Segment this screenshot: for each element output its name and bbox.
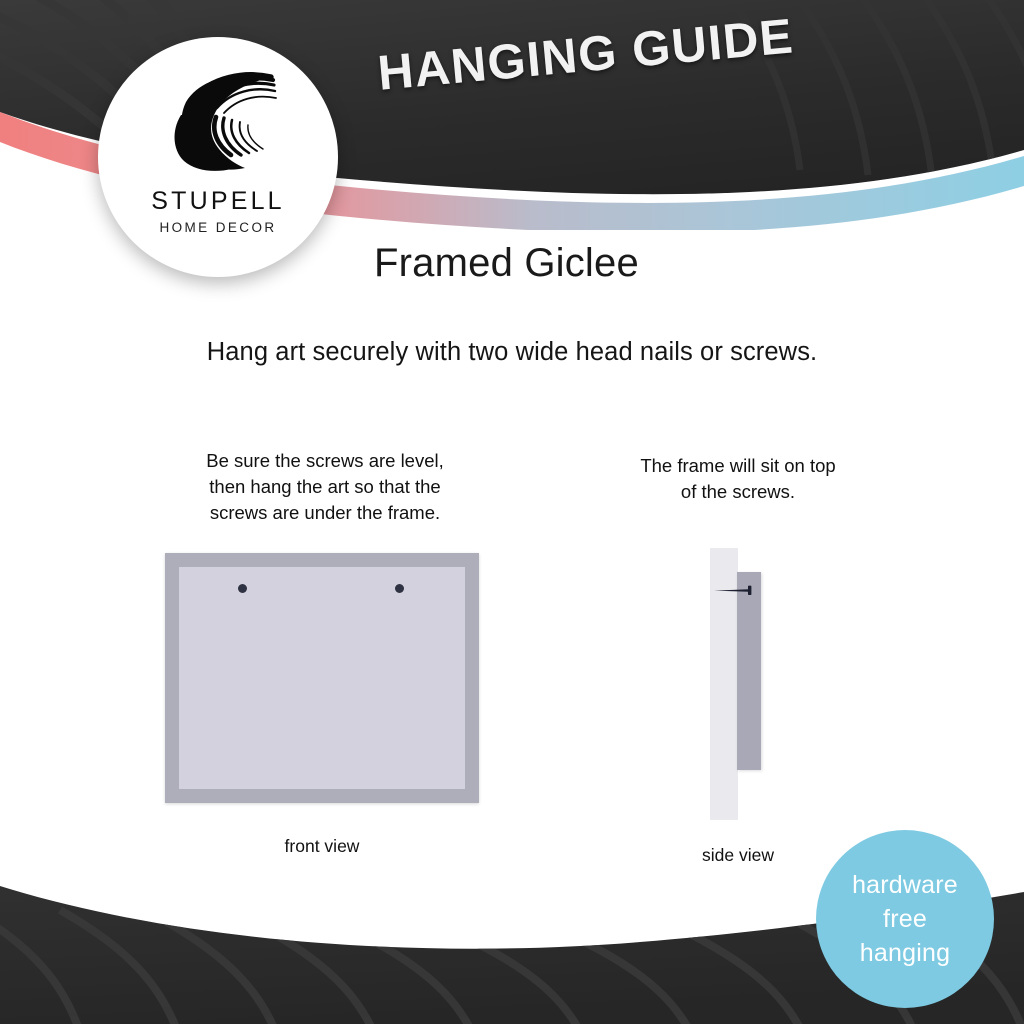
front-view-diagram	[165, 553, 479, 803]
front-view-label: front view	[222, 836, 422, 857]
side-view-diagram	[710, 548, 766, 820]
screw-dot-right-icon	[395, 584, 404, 593]
side-view-label: side view	[638, 845, 838, 866]
hanging-guide-page: STUPELL HOME DECOR HANGING GUIDE Framed …	[0, 0, 1024, 1024]
side-view-caption: The frame will sit on top of the screws.	[588, 453, 888, 505]
product-name: Framed Giclee	[374, 241, 639, 286]
logo-tagline-text: HOME DECOR	[159, 220, 276, 235]
screw-dot-left-icon	[238, 584, 247, 593]
picture-frame-mat	[179, 567, 465, 789]
caption-line: screws are under the frame.	[160, 500, 490, 526]
stupell-logo-badge: STUPELL HOME DECOR	[98, 37, 338, 277]
badge-line-3: hanging	[860, 936, 950, 970]
caption-line: The frame will sit on top	[588, 453, 888, 479]
badge-line-1: hardware	[852, 868, 958, 902]
main-instruction: Hang art securely with two wide head nai…	[0, 338, 1024, 367]
badge-line-2: free	[883, 902, 927, 936]
caption-line: of the screws.	[588, 479, 888, 505]
nail-icon	[713, 585, 757, 596]
stupell-swoosh-icon	[153, 69, 283, 181]
front-view-caption: Be sure the screws are level, then hang …	[160, 448, 490, 526]
caption-line: then hang the art so that the	[160, 474, 490, 500]
frame-side-profile	[737, 572, 761, 770]
hardware-free-hanging-badge: hardware free hanging	[816, 830, 994, 1008]
logo-brand-text: STUPELL	[151, 187, 285, 216]
caption-line: Be sure the screws are level,	[160, 448, 490, 474]
